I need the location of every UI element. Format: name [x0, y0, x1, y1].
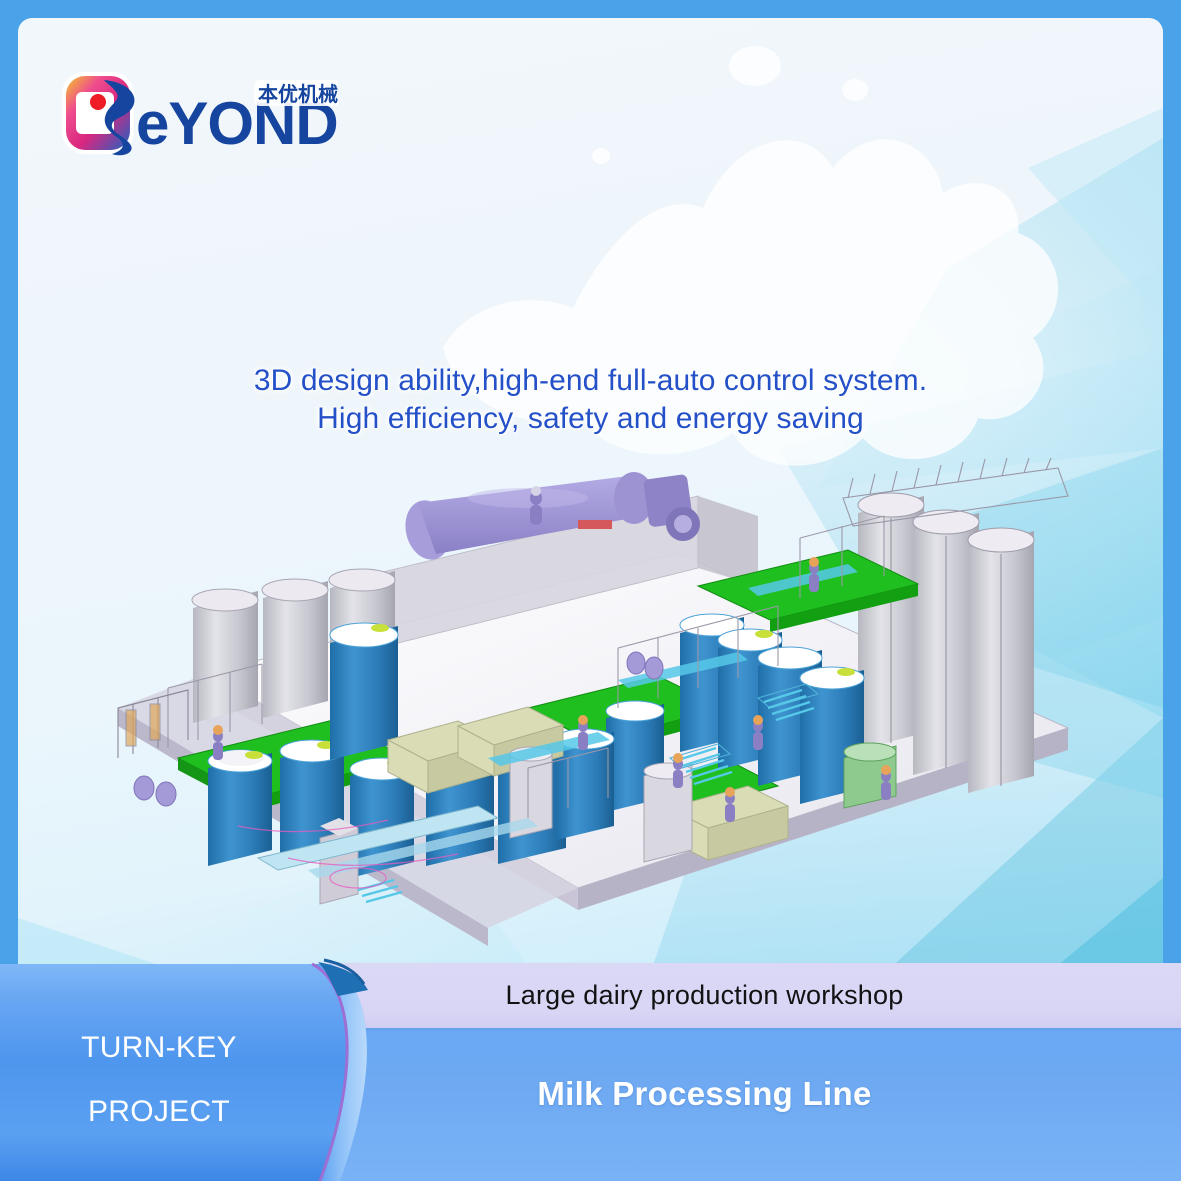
- silo-group-right: [843, 458, 1068, 793]
- headline: 3D design ability,high-end full-auto con…: [18, 362, 1163, 438]
- green-platforms: [178, 550, 918, 815]
- utility-frames: [118, 690, 188, 758]
- tanker-truck: [399, 472, 700, 564]
- silo-group-left: [192, 569, 395, 723]
- pipework: [238, 820, 458, 888]
- machine-boxes: [388, 707, 788, 860]
- logo-mark-icon: [62, 72, 134, 155]
- railings-and-stairs: [168, 516, 884, 818]
- back-wall: [358, 496, 758, 653]
- stair-treads: [358, 690, 814, 902]
- green-round-tank: [844, 743, 896, 808]
- headline-line-1: 3D design ability,high-end full-auto con…: [254, 364, 927, 397]
- factory-3d-render: [58, 458, 1158, 958]
- worker-figures: [213, 486, 891, 822]
- bottom-banner: Large dairy production workshop Milk Pro…: [0, 938, 1181, 1181]
- banner-main-title: Milk Processing Line: [318, 1066, 1181, 1122]
- purple-drums: [134, 652, 663, 806]
- banner-subtitle: Large dairy production workshop: [318, 963, 1181, 1028]
- conveyor-lines: [258, 564, 858, 878]
- blue-tank-group: [208, 614, 864, 878]
- brand-logo[interactable]: eYOND 本优机械: [58, 66, 338, 162]
- logo-cn-text: 本优机械: [254, 80, 338, 106]
- vessel-group: [320, 747, 692, 904]
- headline-line-2: High efficiency, safety and energy savin…: [18, 400, 1163, 438]
- svg-text:本优机械: 本优机械: [258, 82, 338, 106]
- ribbon-line-1: TURN-KEY: [0, 1016, 318, 1080]
- ribbon-text: TURN-KEY PROJECT: [0, 1016, 318, 1144]
- factory-floor: [118, 553, 1068, 946]
- ribbon-line-2: PROJECT: [0, 1080, 318, 1144]
- poster-root: eYOND 本优机械 3D design ability,high-end fu…: [0, 0, 1181, 1181]
